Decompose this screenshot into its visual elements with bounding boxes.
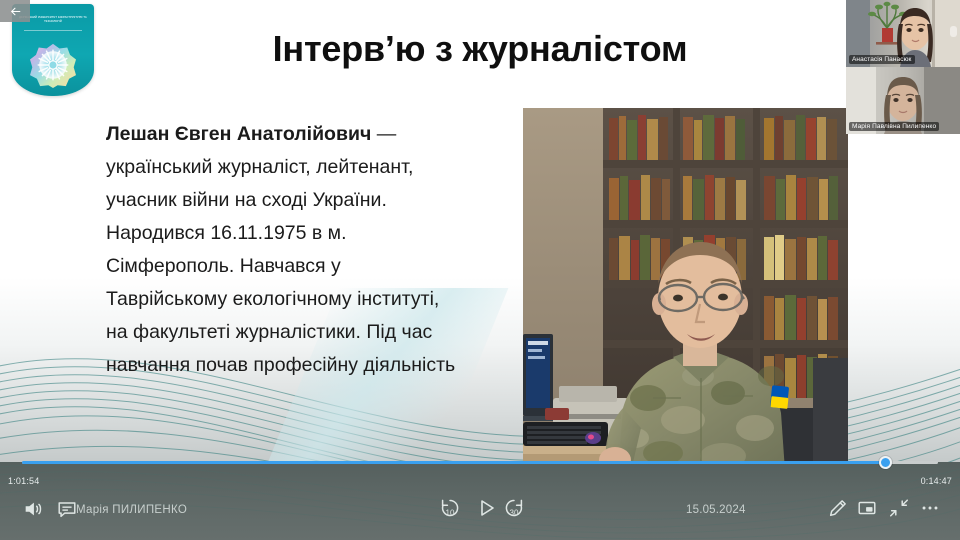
- recording-player-screen: Державний університет інфраструктури та …: [0, 0, 960, 540]
- play-icon[interactable]: [474, 496, 498, 520]
- recording-date: 15.05.2024: [686, 504, 746, 516]
- elapsed-time: 1:01:54: [8, 476, 39, 486]
- progress-fill: [22, 461, 884, 464]
- interviewee-photo: [523, 108, 848, 471]
- mic-indicator: [950, 26, 957, 37]
- presentation-slide: Державний університет інфраструктури та …: [0, 0, 960, 478]
- participant-tile-2[interactable]: Марія Павлівна Пилипенко: [846, 67, 960, 134]
- forward-30-icon[interactable]: 30: [502, 496, 526, 520]
- exit-fullscreen-icon[interactable]: [888, 497, 910, 519]
- participant-tile-1[interactable]: Анастасія Панасюк: [846, 0, 960, 67]
- slide-body-text: Лешан Євген Анатолійович — український ж…: [106, 118, 466, 382]
- progress-handle[interactable]: [879, 456, 892, 469]
- volume-icon[interactable]: [22, 498, 44, 520]
- svg-text:30: 30: [510, 508, 519, 517]
- logo-divider: [24, 30, 82, 31]
- person-name: Лешан Євген Анатолійович: [106, 123, 371, 145]
- page-title: Інтерв’ю з журналістом: [110, 28, 850, 70]
- back-arrow-icon: [9, 5, 22, 18]
- back-button[interactable]: [0, 0, 30, 22]
- presenter-name: Марія ПИЛИПЕНКО: [76, 504, 187, 516]
- iridescent-star-emblem: [30, 42, 76, 88]
- player-control-bar: 1:01:54 0:14:47 Марія ПИЛИПЕНКО: [0, 462, 960, 540]
- pencil-icon[interactable]: [827, 497, 849, 519]
- player-controls-row: Марія ПИЛИПЕНКО 10 30: [0, 492, 960, 532]
- participant-tiles: Анастасія Панасюк: [846, 0, 960, 134]
- remaining-time: 0:14:47: [921, 476, 952, 486]
- body-dash: —: [371, 123, 396, 145]
- participant-name: Марія Павлівна Пилипенко: [849, 122, 939, 131]
- captions-icon[interactable]: [56, 498, 78, 520]
- progress-scrubber[interactable]: [0, 452, 960, 472]
- picture-in-picture-icon[interactable]: [856, 497, 878, 519]
- body-description: український журналіст, лейтенант, учасни…: [106, 156, 455, 376]
- participant-name: Анастасія Панасюк: [849, 55, 915, 64]
- more-options-icon[interactable]: [919, 497, 941, 519]
- svg-text:10: 10: [446, 508, 455, 517]
- rewind-10-icon[interactable]: 10: [438, 496, 462, 520]
